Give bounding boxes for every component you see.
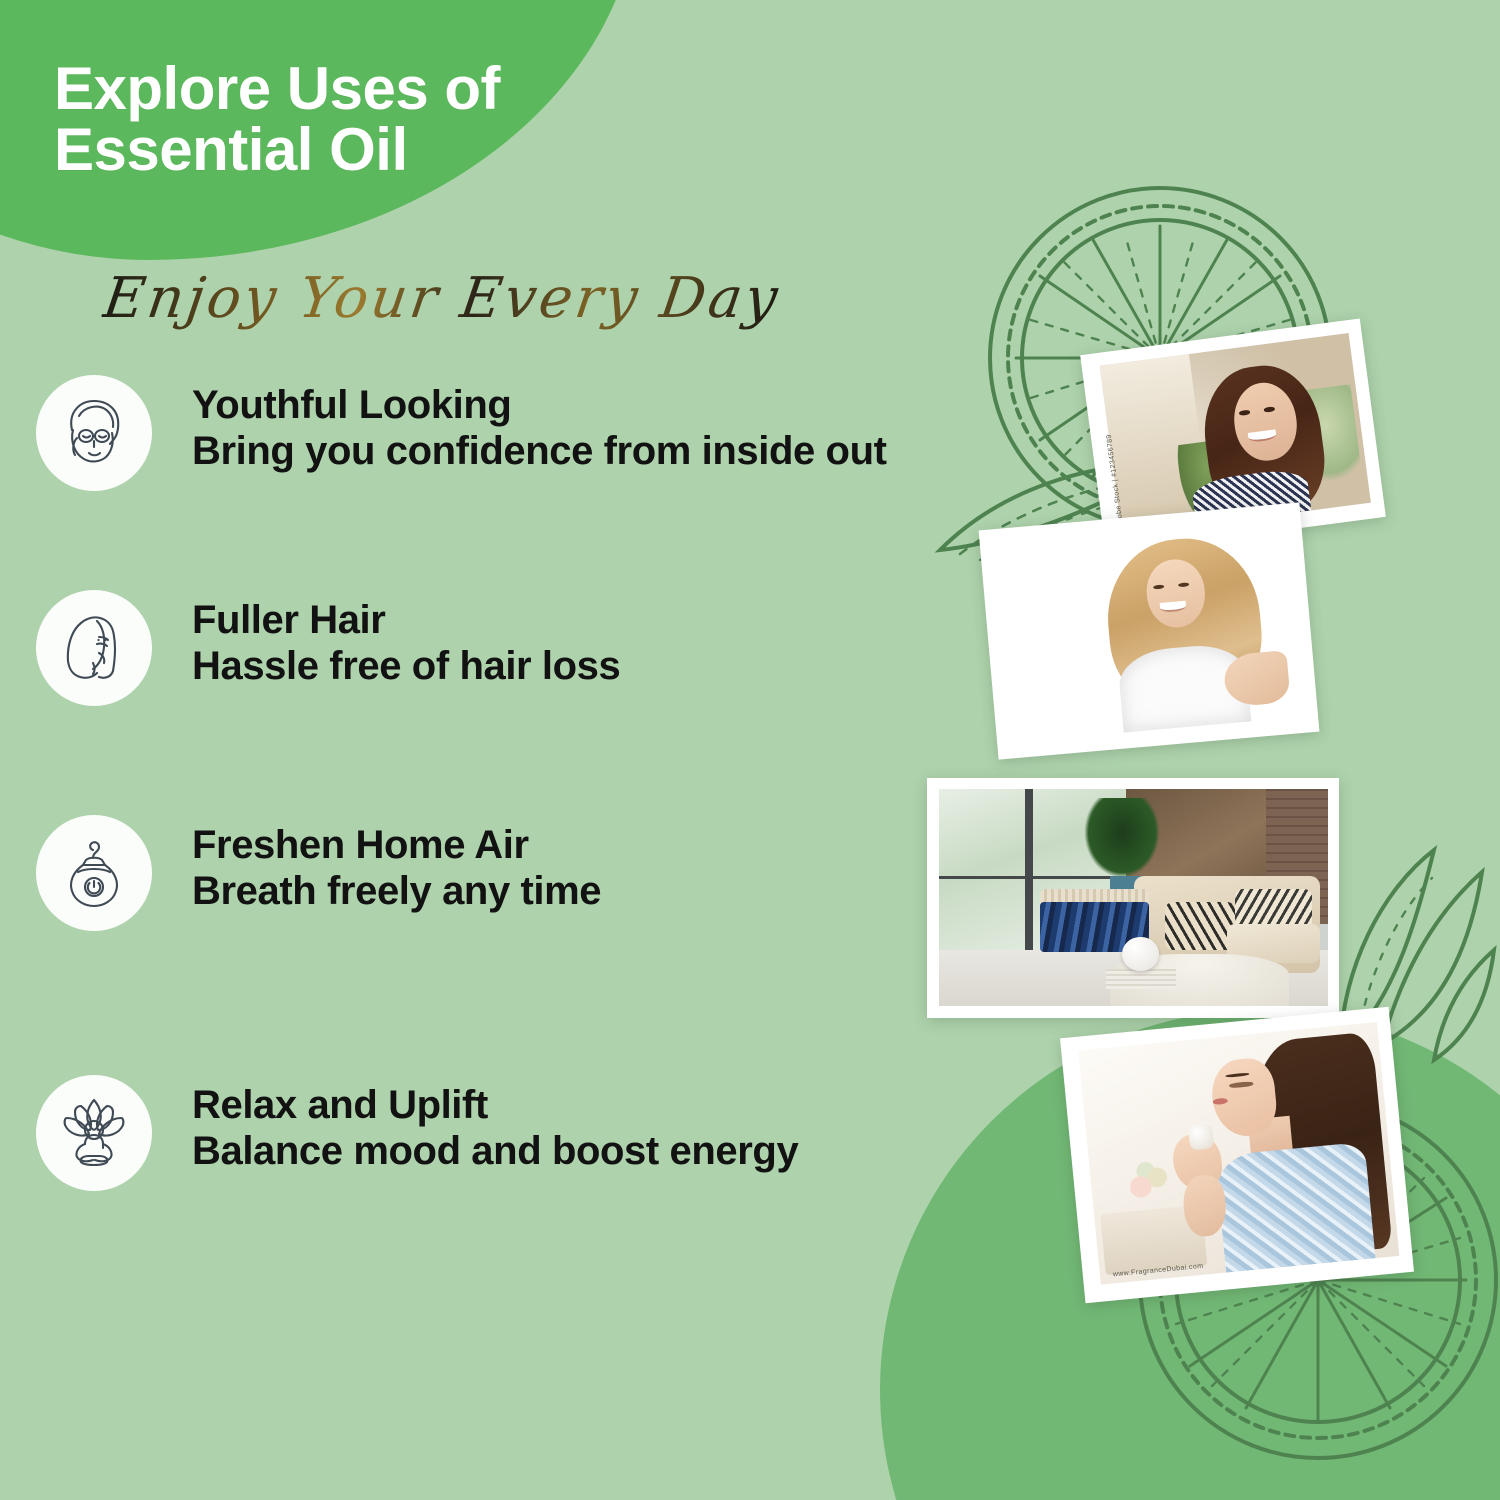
- long-hair-woman-icon: [36, 590, 152, 706]
- photo-living-room: [927, 778, 1339, 1018]
- feature-subtitle: Hassle free of hair loss: [192, 644, 620, 690]
- feature-title: Youthful Looking: [192, 383, 887, 429]
- feature-item-fuller-hair: Fuller Hair Hassle free of hair loss: [36, 590, 620, 706]
- feature-subtitle: Breath freely any time: [192, 869, 601, 915]
- lotus-meditation-icon: [36, 1075, 152, 1191]
- infographic-canvas: Explore Uses of Essential Oil Enjoy Your…: [0, 0, 1500, 1500]
- feature-item-relax-and-uplift: Relax and Uplift Balance mood and boost …: [36, 1075, 798, 1191]
- face-mask-icon: [36, 375, 152, 491]
- page-title: Explore Uses of Essential Oil: [54, 58, 500, 180]
- feature-title: Relax and Uplift: [192, 1083, 798, 1129]
- feature-item-youthful-looking: Youthful Looking Bring you confidence fr…: [36, 375, 887, 491]
- feature-title: Freshen Home Air: [192, 823, 601, 869]
- feature-item-freshen-home-air: Freshen Home Air Breath freely any time: [36, 815, 601, 931]
- aroma-diffuser-icon: [36, 815, 152, 931]
- feature-subtitle: Balance mood and boost energy: [192, 1129, 798, 1175]
- feature-title: Fuller Hair: [192, 598, 620, 644]
- tagline-script-text: Enjoy Your Every Day: [99, 266, 784, 331]
- photo-blonde-hair: [979, 502, 1320, 759]
- photo-perfume-woman: www.FragranceDubai.com: [1060, 1007, 1414, 1303]
- feature-subtitle: Bring you confidence from inside out: [192, 429, 887, 475]
